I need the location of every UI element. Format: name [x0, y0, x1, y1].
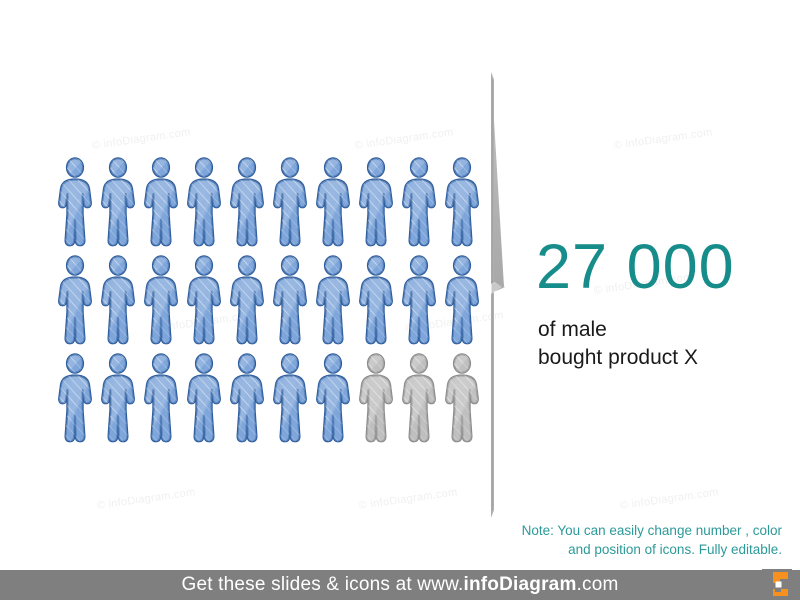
- footer-bar: Get these slides & icons at www.infoDiag…: [0, 570, 800, 600]
- person-icon-active: [314, 156, 352, 249]
- person-icon-active: [185, 352, 223, 445]
- footer-brand: infoDiagram: [464, 574, 577, 595]
- person-icon-active: [357, 254, 395, 347]
- person-icon-active: [314, 352, 352, 445]
- person-icon-active: [271, 352, 309, 445]
- person-icon-active: [228, 352, 266, 445]
- person-icon-active: [185, 156, 223, 249]
- chevron-divider-icon: [478, 70, 518, 520]
- footer-suffix: .com: [577, 574, 619, 595]
- person-icon-active: [443, 156, 481, 249]
- person-icon-active: [56, 352, 94, 445]
- watermark-text: © infoDiagram.com: [96, 486, 196, 512]
- watermark-text: © infoDiagram.com: [358, 486, 458, 512]
- editable-note: Note: You can easily change number , col…: [452, 521, 782, 559]
- person-icon-active: [142, 156, 180, 249]
- footer-prefix: Get these slides & icons at www.: [181, 574, 463, 595]
- watermark-text: © infoDiagram.com: [354, 126, 454, 152]
- pictogram-row: [56, 254, 481, 347]
- person-icon-active: [271, 156, 309, 249]
- stat-subtitle: of male bought product X: [538, 316, 698, 372]
- person-icon-active: [99, 254, 137, 347]
- person-icon-inactive: [400, 352, 438, 445]
- watermark-text: © infoDiagram.com: [619, 486, 719, 512]
- person-icon-active: [99, 156, 137, 249]
- person-icon-active: [56, 156, 94, 249]
- person-icon-inactive: [357, 352, 395, 445]
- note-line2: and position of icons. Fully editable.: [452, 540, 782, 559]
- person-icon-active: [314, 254, 352, 347]
- watermark-text: © infoDiagram.com: [91, 126, 191, 152]
- person-icon-active: [400, 156, 438, 249]
- pictogram-row: [56, 156, 481, 249]
- person-icon-active: [56, 254, 94, 347]
- stat-subtitle-line2: bought product X: [538, 344, 698, 372]
- person-icon-active: [271, 254, 309, 347]
- footer-cta-text[interactable]: Get these slides & icons at www.infoDiag…: [0, 570, 800, 600]
- person-icon-active: [228, 156, 266, 249]
- person-icon-active: [400, 254, 438, 347]
- stat-subtitle-line1: of male: [538, 316, 698, 344]
- person-icon-active: [185, 254, 223, 347]
- person-icon-active: [142, 254, 180, 347]
- note-line1: Note: You can easily change number , col…: [452, 521, 782, 540]
- slide-canvas: © infoDiagram.com© infoDiagram.com© info…: [0, 0, 800, 600]
- person-icon-active: [142, 352, 180, 445]
- person-icon-active: [228, 254, 266, 347]
- person-icon-active: [443, 254, 481, 347]
- pictogram-row: [56, 352, 481, 445]
- person-icon-active: [357, 156, 395, 249]
- pictogram-grid: [56, 156, 466, 456]
- watermark-text: © infoDiagram.com: [613, 126, 713, 152]
- infodiagram-logo-icon: [762, 569, 792, 599]
- person-icon-inactive: [443, 352, 481, 445]
- person-icon-active: [99, 352, 137, 445]
- stat-value: 27 000: [536, 236, 735, 299]
